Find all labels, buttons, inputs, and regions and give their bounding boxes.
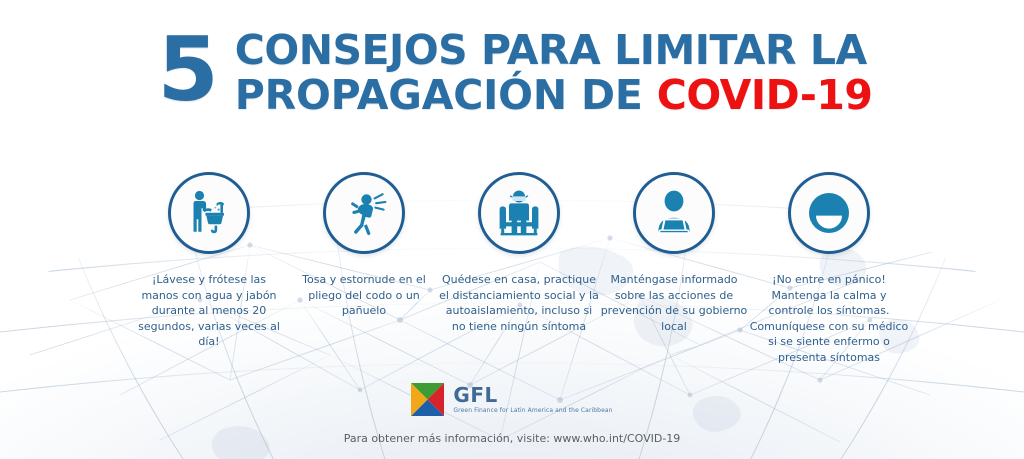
infographic-poster: 5 CONSEJOS PARA LIMITAR LA PROPAGACIÓN D… [0, 0, 1024, 459]
smiling-face-icon [803, 187, 855, 239]
stay-home-armchair-icon [491, 187, 547, 239]
gfl-logo-mark [411, 383, 444, 416]
tip-item-dont-panic: ¡No entre en pánico! Mantenga la calma y… [752, 172, 907, 365]
headline-number: 5 [158, 22, 217, 118]
handwashing-icon [183, 187, 235, 239]
tip-item-handwashing: ¡Lávese y frótese las manos con agua y j… [132, 172, 287, 350]
headline-line-2-prefix: PROPAGACIÓN DE [235, 71, 657, 119]
gfl-logo-inner: GFL Green Finance for Latin America and … [411, 383, 612, 416]
tip-caption-4: Manténgase informado sobre las acciones … [598, 272, 750, 334]
gfl-logo-name: GFL [453, 385, 612, 405]
person-with-laptop-icon [648, 188, 700, 238]
gfl-logo-text: GFL Green Finance for Latin America and … [453, 385, 612, 415]
headline-covid-term: COVID-19 [657, 71, 873, 119]
tip-icon-circle-3 [478, 172, 560, 254]
headline-block: 5 CONSEJOS PARA LIMITAR LA PROPAGACIÓN D… [0, 22, 1024, 118]
headline-lines: CONSEJOS PARA LIMITAR LA PROPAGACIÓN DE … [235, 22, 873, 118]
gfl-logo-tagline: Green Finance for Latin America and the … [453, 407, 612, 415]
tip-icon-circle-1 [168, 172, 250, 254]
footer-source-note: Para obtener más información, visite: ww… [0, 432, 1024, 445]
tip-icon-circle-5 [788, 172, 870, 254]
cough-into-elbow-icon [337, 187, 391, 239]
gfl-logo-block: GFL Green Finance for Latin America and … [0, 383, 1024, 416]
tip-caption-2: Tosa y estornude en el pliego del codo o… [288, 272, 440, 319]
headline-line-1: CONSEJOS PARA LIMITAR LA [235, 28, 873, 73]
tip-icon-circle-2 [323, 172, 405, 254]
tip-item-cough-etiquette: Tosa y estornude en el pliego del codo o… [287, 172, 442, 319]
tip-caption-1: ¡Lávese y frótese las manos con agua y j… [133, 272, 285, 350]
gfl-quadrant-icon [411, 383, 444, 416]
tip-caption-3: Quédese en casa, practique el distanciam… [439, 272, 599, 334]
tip-item-stay-home: Quédese en casa, practique el distanciam… [442, 172, 597, 334]
tips-row: ¡Lávese y frótese las manos con agua y j… [0, 172, 1024, 365]
tip-caption-5: ¡No entre en pánico! Mantenga la calma y… [749, 272, 909, 365]
headline-line-2: PROPAGACIÓN DE COVID-19 [235, 73, 873, 118]
tip-icon-circle-4 [633, 172, 715, 254]
tip-item-stay-informed: Manténgase informado sobre las acciones … [597, 172, 752, 334]
